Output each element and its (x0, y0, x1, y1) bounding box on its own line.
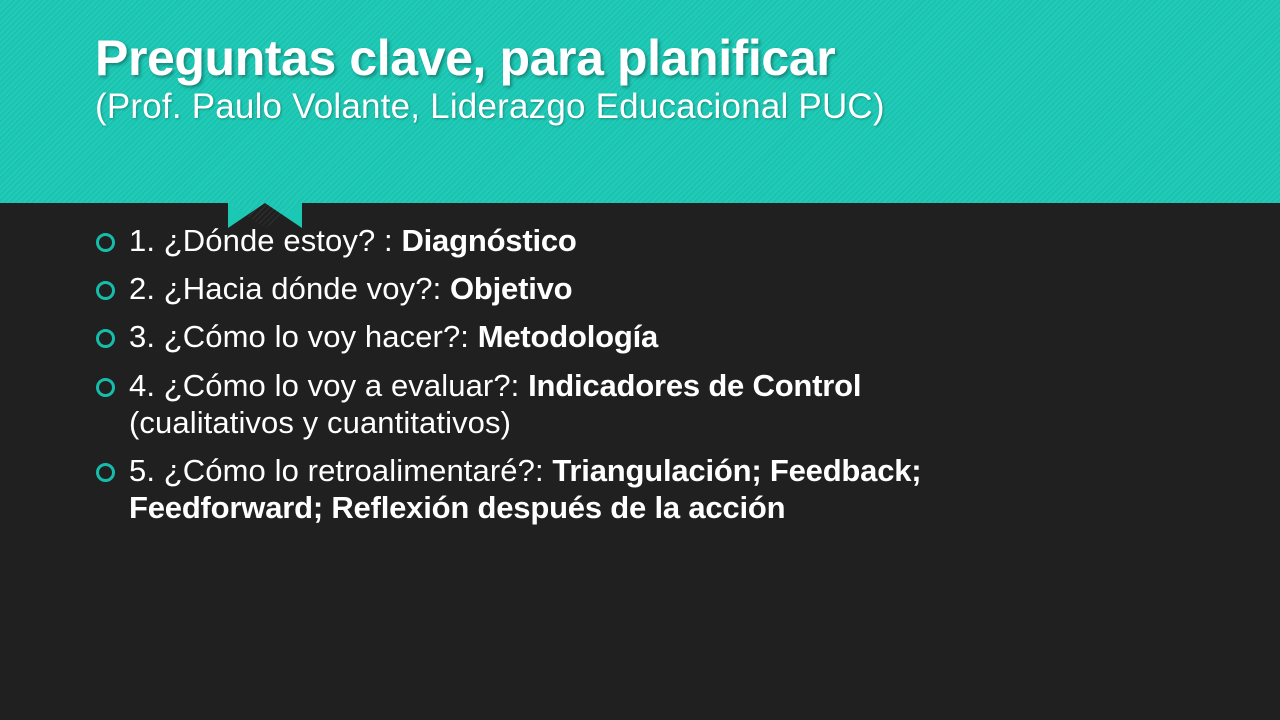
list-item-text: 5. ¿Cómo lo retroalimentaré?: Triangulac… (129, 452, 1256, 526)
list-item-answer: Triangulación; Feedback; (552, 453, 921, 488)
ring-bullet-icon (96, 463, 115, 482)
presentation-slide: Preguntas clave, para planificar (Prof. … (0, 0, 1280, 720)
list-item-question: 1. ¿Dónde estoy? : (129, 223, 401, 258)
list-item-text: 2. ¿Hacia dónde voy?: Objetivo (129, 270, 1256, 307)
list-item: 2. ¿Hacia dónde voy?: Objetivo (96, 270, 1256, 307)
list-item-question: 5. ¿Cómo lo retroalimentaré?: (129, 453, 552, 488)
list-item-question: (cualitativos y cuantitativos) (129, 405, 511, 440)
list-item-text: 4. ¿Cómo lo voy a evaluar?: Indicadores … (129, 367, 1256, 441)
ring-bullet-icon (96, 378, 115, 397)
ring-bullet-icon (96, 281, 115, 300)
list-item-text: 1. ¿Dónde estoy? : Diagnóstico (129, 222, 1256, 259)
list-item-answer: Indicadores de Control (528, 368, 861, 403)
list-item-answer: Diagnóstico (401, 223, 576, 258)
bullet-list: 1. ¿Dónde estoy? : Diagnóstico2. ¿Hacia … (96, 222, 1256, 537)
ring-bullet-icon (96, 233, 115, 252)
list-item: 3. ¿Cómo lo voy hacer?: Metodología (96, 318, 1256, 355)
list-item: 1. ¿Dónde estoy? : Diagnóstico (96, 222, 1256, 259)
list-item-text: 3. ¿Cómo lo voy hacer?: Metodología (129, 318, 1256, 355)
list-item-question: 4. ¿Cómo lo voy a evaluar?: (129, 368, 528, 403)
list-item: 4. ¿Cómo lo voy a evaluar?: Indicadores … (96, 367, 1256, 441)
list-item-question: 3. ¿Cómo lo voy hacer?: (129, 319, 478, 354)
title-block: Preguntas clave, para planificar (Prof. … (95, 33, 1225, 126)
list-item: 5. ¿Cómo lo retroalimentaré?: Triangulac… (96, 452, 1256, 526)
ring-bullet-icon (96, 329, 115, 348)
slide-title: Preguntas clave, para planificar (95, 33, 1225, 84)
slide-subtitle: (Prof. Paulo Volante, Liderazgo Educacio… (95, 89, 1225, 126)
list-item-answer: Objetivo (450, 271, 572, 306)
list-item-answer: Metodología (478, 319, 658, 354)
list-item-question: 2. ¿Hacia dónde voy?: (129, 271, 450, 306)
list-item-answer: Feedforward; Reflexión después de la acc… (129, 490, 785, 525)
